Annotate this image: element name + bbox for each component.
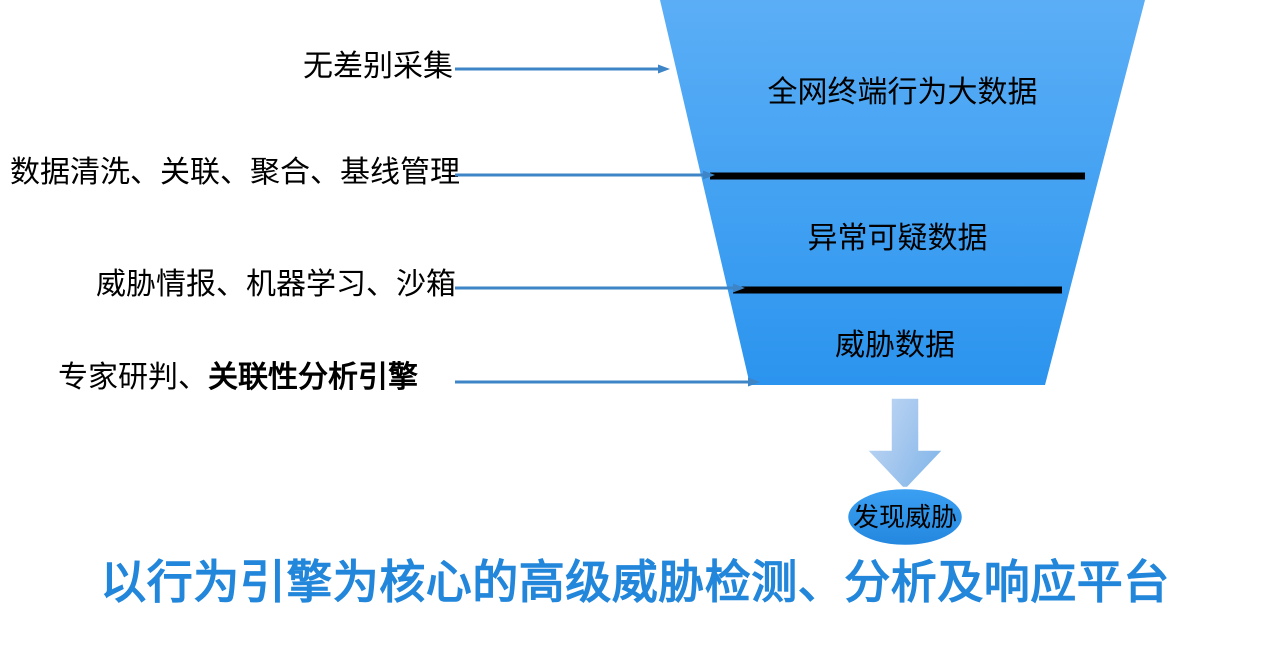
- down-arrow-icon: [855, 398, 955, 490]
- stage-label-processing: 数据清洗、关联、聚合、基线管理: [10, 158, 460, 188]
- connector-arrow-collection: [455, 62, 670, 76]
- stage-label-correlation: 专家研判、关联性分析引擎: [58, 363, 418, 393]
- result-ellipse-shape: [847, 488, 963, 546]
- funnel-band-label-threat: 威胁数据: [720, 331, 1070, 361]
- result-ellipse: [845, 486, 965, 548]
- headline-text: 以行为引擎为核心的高级威胁检测、分析及响应平台: [0, 556, 1270, 609]
- down-arrow-shape: [867, 398, 943, 490]
- stage-label-correlation-emphasis: 关联性分析引擎: [208, 361, 418, 394]
- funnel-body: [660, 0, 1145, 385]
- stage-label-correlation-prefix: 专家研判、: [58, 361, 208, 394]
- stage-label-collection: 无差别采集: [303, 52, 453, 82]
- slide-canvas: 全网终端行为大数据 异常可疑数据 威胁数据 无差别采集 数据清洗、关联、聚合、基…: [0, 0, 1270, 651]
- funnel-band-label-big-data: 全网终端行为大数据: [660, 78, 1145, 108]
- connector-arrow-analysis: [455, 281, 745, 295]
- funnel-band-label-anomalous: 异常可疑数据: [690, 224, 1105, 254]
- stage-label-analysis: 威胁情报、机器学习、沙箱: [96, 270, 456, 300]
- connector-arrow-processing: [455, 168, 715, 182]
- connector-arrow-correlation: [455, 375, 760, 389]
